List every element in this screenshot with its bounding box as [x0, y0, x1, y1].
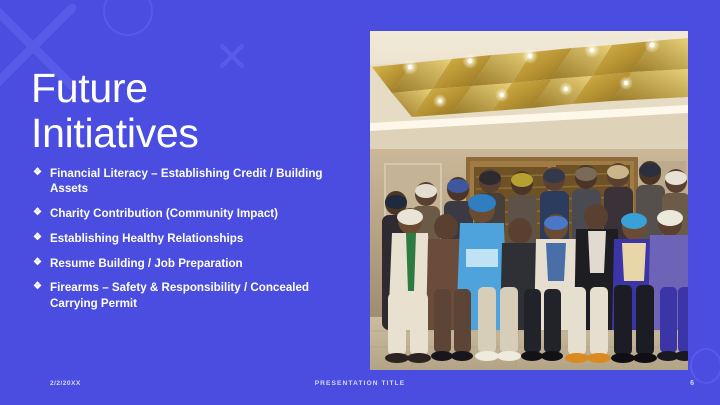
list-item: ❖ Financial Literacy – Establishing Cred… [33, 166, 355, 197]
list-item-label: Firearms – Safety & Responsibility / Con… [50, 280, 355, 311]
list-item: ❖ Resume Building / Job Preparation [33, 256, 355, 271]
slide: Future Initiatives ❖ Financial Literacy … [0, 0, 720, 405]
list-item: ❖ Firearms – Safety & Responsibility / C… [33, 280, 355, 311]
list-item: ❖ Establishing Healthy Relationships [33, 231, 355, 246]
slide-title-line-2: Initiatives [31, 111, 351, 155]
bullet-list: ❖ Financial Literacy – Establishing Cred… [33, 166, 355, 321]
footer-page-number: 6 [690, 380, 694, 387]
list-item-label: Establishing Healthy Relationships [50, 231, 355, 246]
diamond-bullet-icon: ❖ [33, 256, 50, 271]
diamond-bullet-icon: ❖ [33, 280, 50, 295]
group-photo [370, 31, 688, 370]
slide-title: Future Initiatives [31, 66, 351, 155]
circle-decoration-bottom [690, 348, 720, 384]
footer-presentation-title: PRESENTATION TITLE [0, 380, 720, 387]
diamond-bullet-icon: ❖ [33, 206, 50, 221]
circle-decoration-top [103, 0, 153, 36]
diamond-bullet-icon: ❖ [33, 231, 50, 246]
diamond-bullet-icon: ❖ [33, 166, 50, 181]
list-item-label: Financial Literacy – Establishing Credit… [50, 166, 355, 197]
group-photo-image [370, 31, 688, 370]
list-item-label: Charity Contribution (Community Impact) [50, 206, 355, 221]
slide-title-line-1: Future [31, 66, 351, 110]
list-item: ❖ Charity Contribution (Community Impact… [33, 206, 355, 221]
list-item-label: Resume Building / Job Preparation [50, 256, 355, 271]
